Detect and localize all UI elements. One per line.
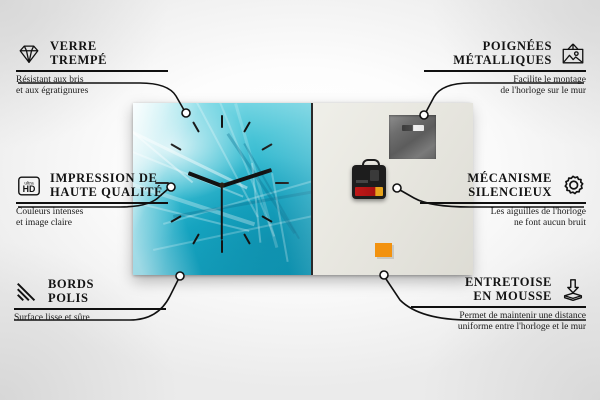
clock-center-hub bbox=[220, 183, 225, 188]
feature-verre-trempe: VERRE TREMPÉ Résistant aux bris et aux é… bbox=[16, 40, 176, 98]
feature-title-line2: MÉTALLIQUES bbox=[453, 53, 552, 67]
feature-desc-line2: uniforme entre l'horloge et le mur bbox=[411, 322, 586, 334]
feature-divider bbox=[420, 202, 586, 204]
feature-desc-line1: Couleurs intenses bbox=[16, 207, 186, 219]
feature-desc-line2: ne font aucun bruit bbox=[420, 218, 586, 230]
clock-marker bbox=[221, 240, 223, 253]
feature-title-line2: POLIS bbox=[48, 291, 89, 305]
feature-desc-line1: Les aiguilles de l'horloge bbox=[420, 207, 586, 219]
battery bbox=[355, 187, 383, 196]
feature-divider bbox=[411, 306, 586, 308]
polished-edge-icon bbox=[14, 279, 40, 305]
feature-desc-line2: et image claire bbox=[16, 218, 186, 230]
hanger-slot bbox=[402, 125, 424, 131]
compression-arrow-icon bbox=[560, 277, 586, 303]
feature-desc-line1: Résistant aux bris bbox=[16, 75, 176, 87]
svg-text:HD: HD bbox=[23, 184, 36, 194]
feature-mecanisme-silencieux: MÉCANISME SILENCIEUX Les aiguilles de l'… bbox=[420, 172, 586, 230]
clock-marker bbox=[243, 121, 251, 132]
clock-marker bbox=[243, 233, 251, 244]
movement-hook bbox=[362, 159, 380, 170]
feature-title-line1: POIGNÉES bbox=[483, 39, 552, 53]
feature-divider bbox=[424, 70, 586, 72]
clock-marker bbox=[275, 182, 289, 184]
metal-hanger-plate bbox=[389, 115, 436, 159]
feature-title-line2: HAUTE QUALITÉ bbox=[50, 185, 163, 199]
feature-divider bbox=[14, 308, 166, 310]
feature-entretoise-en-mousse: ENTRETOISE EN MOUSSE Permet de maintenir… bbox=[411, 276, 586, 334]
feature-desc-line1: Facilite le montage bbox=[424, 75, 586, 87]
infographic-canvas: VERRE TREMPÉ Résistant aux bris et aux é… bbox=[0, 0, 600, 400]
quartz-movement bbox=[352, 165, 386, 199]
feature-title-line2: TREMPÉ bbox=[50, 53, 107, 67]
feature-title-line1: VERRE bbox=[50, 39, 97, 53]
clock-marker bbox=[261, 143, 272, 151]
foam-spacer bbox=[375, 243, 392, 257]
feature-impression-haute-qualite: ultra HD IMPRESSION DE HAUTE QUALITÉ Cou… bbox=[16, 172, 186, 230]
feature-desc-line2: et aux égratignures bbox=[16, 86, 176, 98]
feature-desc-line2: de l'horloge sur le mur bbox=[424, 86, 586, 98]
diamond-icon bbox=[16, 41, 42, 67]
feature-title-line1: MÉCANISME bbox=[467, 171, 552, 185]
feature-title-line1: BORDS bbox=[48, 277, 94, 291]
clock-marker bbox=[221, 115, 223, 128]
clock-second-hand bbox=[221, 186, 223, 240]
feature-divider bbox=[16, 202, 168, 204]
feature-bords-polis: BORDS POLIS Surface lisse et sûre bbox=[14, 278, 174, 324]
feature-divider bbox=[16, 70, 168, 72]
ultra-hd-icon: ultra HD bbox=[16, 173, 42, 199]
clock-marker bbox=[192, 121, 200, 132]
feature-title-line2: SILENCIEUX bbox=[468, 185, 552, 199]
feature-title-line1: ENTRETOISE bbox=[465, 275, 552, 289]
feature-title-line2: EN MOUSSE bbox=[473, 289, 552, 303]
feature-title-line1: IMPRESSION DE bbox=[50, 171, 157, 185]
movement-dial bbox=[370, 170, 379, 181]
feature-desc-line1: Permet de maintenir une distance bbox=[411, 311, 586, 323]
hanging-frame-icon bbox=[560, 41, 586, 67]
movement-slot bbox=[356, 180, 368, 183]
feature-desc-line1: Surface lisse et sûre bbox=[14, 313, 174, 325]
feature-poignees-metalliques: POIGNÉES MÉTALLIQUES Facilite le montage… bbox=[424, 40, 586, 98]
gear-icon bbox=[560, 173, 586, 199]
